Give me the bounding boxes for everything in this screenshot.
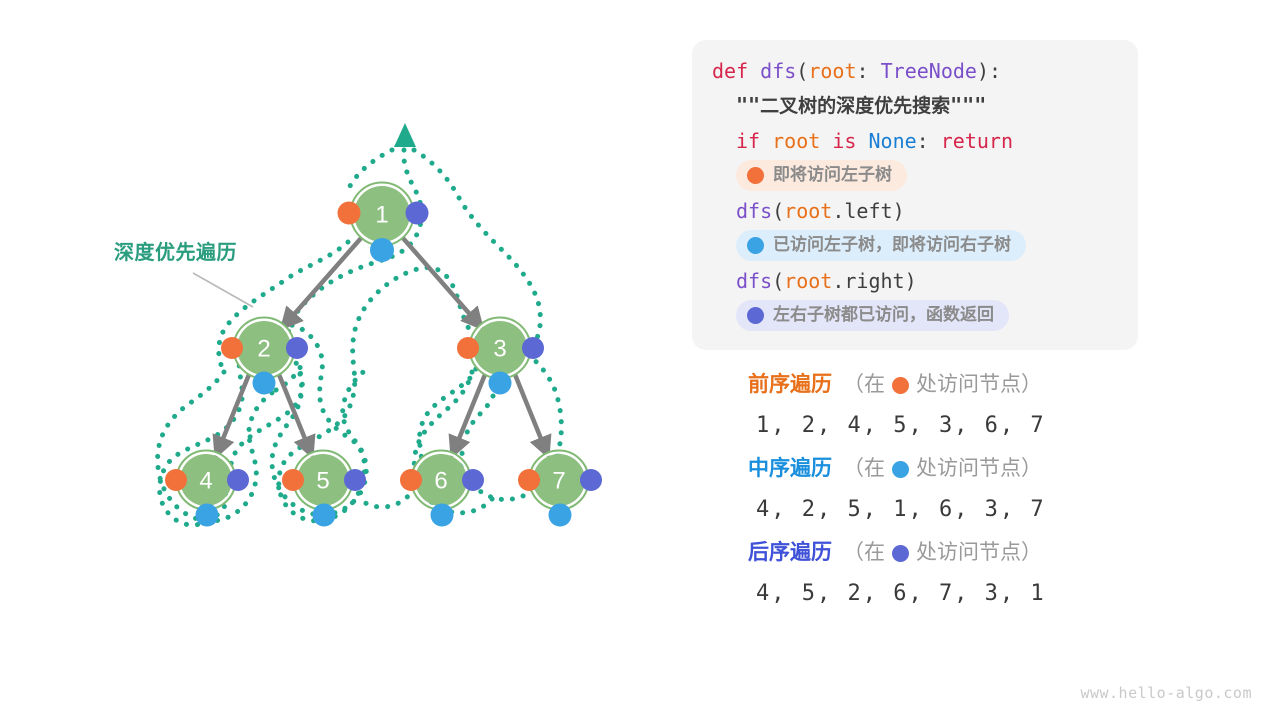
legend-sequence-postorder: 4, 5, 2, 6, 7, 3, 1: [756, 578, 1168, 610]
token-dot-right: .right: [832, 269, 904, 293]
token-paren-open: (: [796, 59, 808, 83]
site-watermark: www.hello-algo.com: [1080, 684, 1252, 702]
annotation-pill-postorder-label: 左右子树都已访问，函数返回: [773, 304, 994, 326]
inorder-marker-3: [489, 372, 512, 395]
tree-node-5[interactable]: 5: [282, 451, 366, 527]
token-none: None: [869, 129, 917, 153]
postorder-marker-4: [227, 469, 249, 491]
preorder-marker-5: [282, 469, 304, 491]
legend-head-inorder: 中序遍历 （在 处访问节点）: [748, 454, 1168, 484]
code-line-dfs-right: dfs(root.right): [692, 264, 1138, 298]
legend-paren-close-postorder: 处访问节点）: [916, 538, 1042, 568]
token-docstring-text: 二叉树的深度优先搜索: [760, 96, 950, 117]
postorder-marker-7: [580, 469, 602, 491]
token-dot-left: .left: [832, 199, 892, 223]
preorder-marker-4: [165, 469, 187, 491]
token-paren-close-left: ): [893, 199, 905, 223]
tree-nodes: 1 2: [165, 183, 602, 527]
binary-tree-diagram: 1 2: [0, 0, 680, 720]
legend-title-postorder: 后序遍历: [748, 538, 832, 568]
annotation-pill-inorder-label: 已访问左子树，即将访问右子树: [773, 234, 1011, 256]
legend-sequence-inorder: 4, 2, 5, 1, 6, 3, 7: [756, 494, 1168, 526]
tree-node-4-label: 4: [199, 468, 212, 495]
postorder-dot-icon: [747, 307, 764, 324]
edge-1-3: [402, 237, 482, 328]
annotation-row-preorder: 即将访问左子树: [692, 158, 1138, 194]
postorder-marker-5: [344, 469, 366, 491]
code-line-if-none: if root is None: return: [692, 124, 1138, 158]
legend-title-inorder: 中序遍历: [748, 454, 832, 484]
postorder-marker-3: [522, 337, 544, 359]
token-docquote-close: """: [950, 93, 986, 117]
edge-3-7: [514, 372, 548, 456]
tree-node-7-label: 7: [552, 468, 565, 495]
legend-sequence-preorder: 1, 2, 4, 5, 3, 6, 7: [756, 410, 1168, 442]
postorder-marker-6: [462, 469, 484, 491]
inorder-legend-dot-icon: [892, 461, 909, 478]
token-def: def: [712, 59, 748, 83]
postorder-marker-2: [286, 337, 308, 359]
annotation-row-postorder: 左右子树都已访问，函数返回: [692, 298, 1138, 334]
dfs-caption-label: 深度优先遍历: [114, 236, 237, 265]
legend-head-postorder: 后序遍历 （在 处访问节点）: [748, 538, 1168, 568]
postorder-legend-dot-icon: [892, 545, 909, 562]
token-root-right: root: [784, 269, 832, 293]
token-if: if: [736, 129, 760, 153]
preorder-legend-dot-icon: [892, 377, 909, 394]
inorder-marker-1: [370, 238, 394, 262]
legend-title-preorder: 前序遍历: [748, 370, 832, 400]
token-treenode: TreeNode: [881, 59, 977, 83]
token-colon-2: :: [917, 129, 929, 153]
legend-head-preorder: 前序遍历 （在 处访问节点）: [748, 370, 1168, 400]
edge-1-2: [282, 237, 362, 328]
legend-paren-close-preorder: 处访问节点）: [916, 370, 1042, 400]
tree-node-6-label: 6: [434, 468, 447, 495]
token-root-param: root: [808, 59, 856, 83]
tree-node-1-label: 1: [375, 202, 388, 229]
code-card: def dfs(root: TreeNode): ""二叉树的深度优先搜索"""…: [692, 40, 1138, 350]
edge-2-4: [216, 372, 250, 456]
legend-block-preorder: 前序遍历 （在 处访问节点） 1, 2, 4, 5, 3, 6, 7: [748, 370, 1168, 442]
inorder-marker-6: [431, 504, 454, 527]
token-return: return: [941, 129, 1013, 153]
tree-node-2[interactable]: 2: [221, 318, 308, 395]
dfs-traversal-figure: 1 2: [0, 0, 1280, 720]
token-dfs-call-right: dfs: [736, 269, 772, 293]
tree-node-4[interactable]: 4: [165, 451, 249, 527]
code-line-def: def dfs(root: TreeNode):: [692, 54, 1138, 88]
token-root-check: root: [772, 129, 820, 153]
preorder-marker-1: [338, 202, 361, 225]
legend-paren-open-postorder: （在: [843, 538, 885, 568]
token-colon: :: [857, 59, 881, 83]
token-paren-open-right: (: [772, 269, 784, 293]
token-paren-close-right: ): [905, 269, 917, 293]
legend-block-inorder: 中序遍历 （在 处访问节点） 4, 2, 5, 1, 6, 3, 7: [748, 454, 1168, 526]
preorder-dot-icon: [747, 167, 764, 184]
inorder-marker-7: [549, 504, 572, 527]
preorder-marker-3: [457, 337, 479, 359]
preorder-marker-7: [518, 469, 540, 491]
tree-node-5-label: 5: [316, 468, 329, 495]
token-docquote-open: "": [736, 93, 760, 117]
tree-node-2-label: 2: [257, 336, 270, 363]
inorder-marker-4: [196, 504, 219, 527]
legend-paren-open-inorder: （在: [843, 454, 885, 484]
inorder-marker-2: [253, 372, 276, 395]
legend-paren-close-inorder: 处访问节点）: [916, 454, 1042, 484]
token-paren-open-left: (: [772, 199, 784, 223]
annotation-pill-preorder-label: 即将访问左子树: [773, 164, 892, 186]
code-line-docstring: ""二叉树的深度优先搜索""": [692, 88, 1138, 124]
tree-node-7[interactable]: 7: [518, 451, 602, 527]
token-dfs-call-left: dfs: [736, 199, 772, 223]
annotation-pill-postorder: 左右子树都已访问，函数返回: [736, 300, 1009, 331]
annotation-row-inorder: 已访问左子树，即将访问右子树: [692, 228, 1138, 264]
legend-paren-open-preorder: （在: [843, 370, 885, 400]
postorder-marker-1: [406, 202, 429, 225]
annotation-pill-inorder: 已访问左子树，即将访问右子树: [736, 230, 1026, 261]
tree-svg: 1 2: [0, 0, 680, 720]
traversal-legend: 前序遍历 （在 处访问节点） 1, 2, 4, 5, 3, 6, 7 中序遍历 …: [748, 370, 1168, 622]
tree-node-3-label: 3: [493, 336, 506, 363]
caption-leader-line: [193, 273, 253, 307]
preorder-marker-6: [400, 469, 422, 491]
token-root-left: root: [784, 199, 832, 223]
inorder-marker-5: [313, 504, 336, 527]
annotation-pill-preorder: 即将访问左子树: [736, 160, 907, 191]
edge-2-5: [278, 372, 312, 456]
token-paren-close-colon: ):: [977, 59, 1001, 83]
code-line-dfs-left: dfs(root.left): [692, 194, 1138, 228]
token-dfs: dfs: [760, 59, 796, 83]
preorder-marker-2: [221, 337, 243, 359]
entry-arrow-icon: [394, 123, 416, 147]
legend-block-postorder: 后序遍历 （在 处访问节点） 4, 5, 2, 6, 7, 3, 1: [748, 538, 1168, 610]
inorder-dot-icon: [747, 237, 764, 254]
token-is: is: [832, 129, 856, 153]
